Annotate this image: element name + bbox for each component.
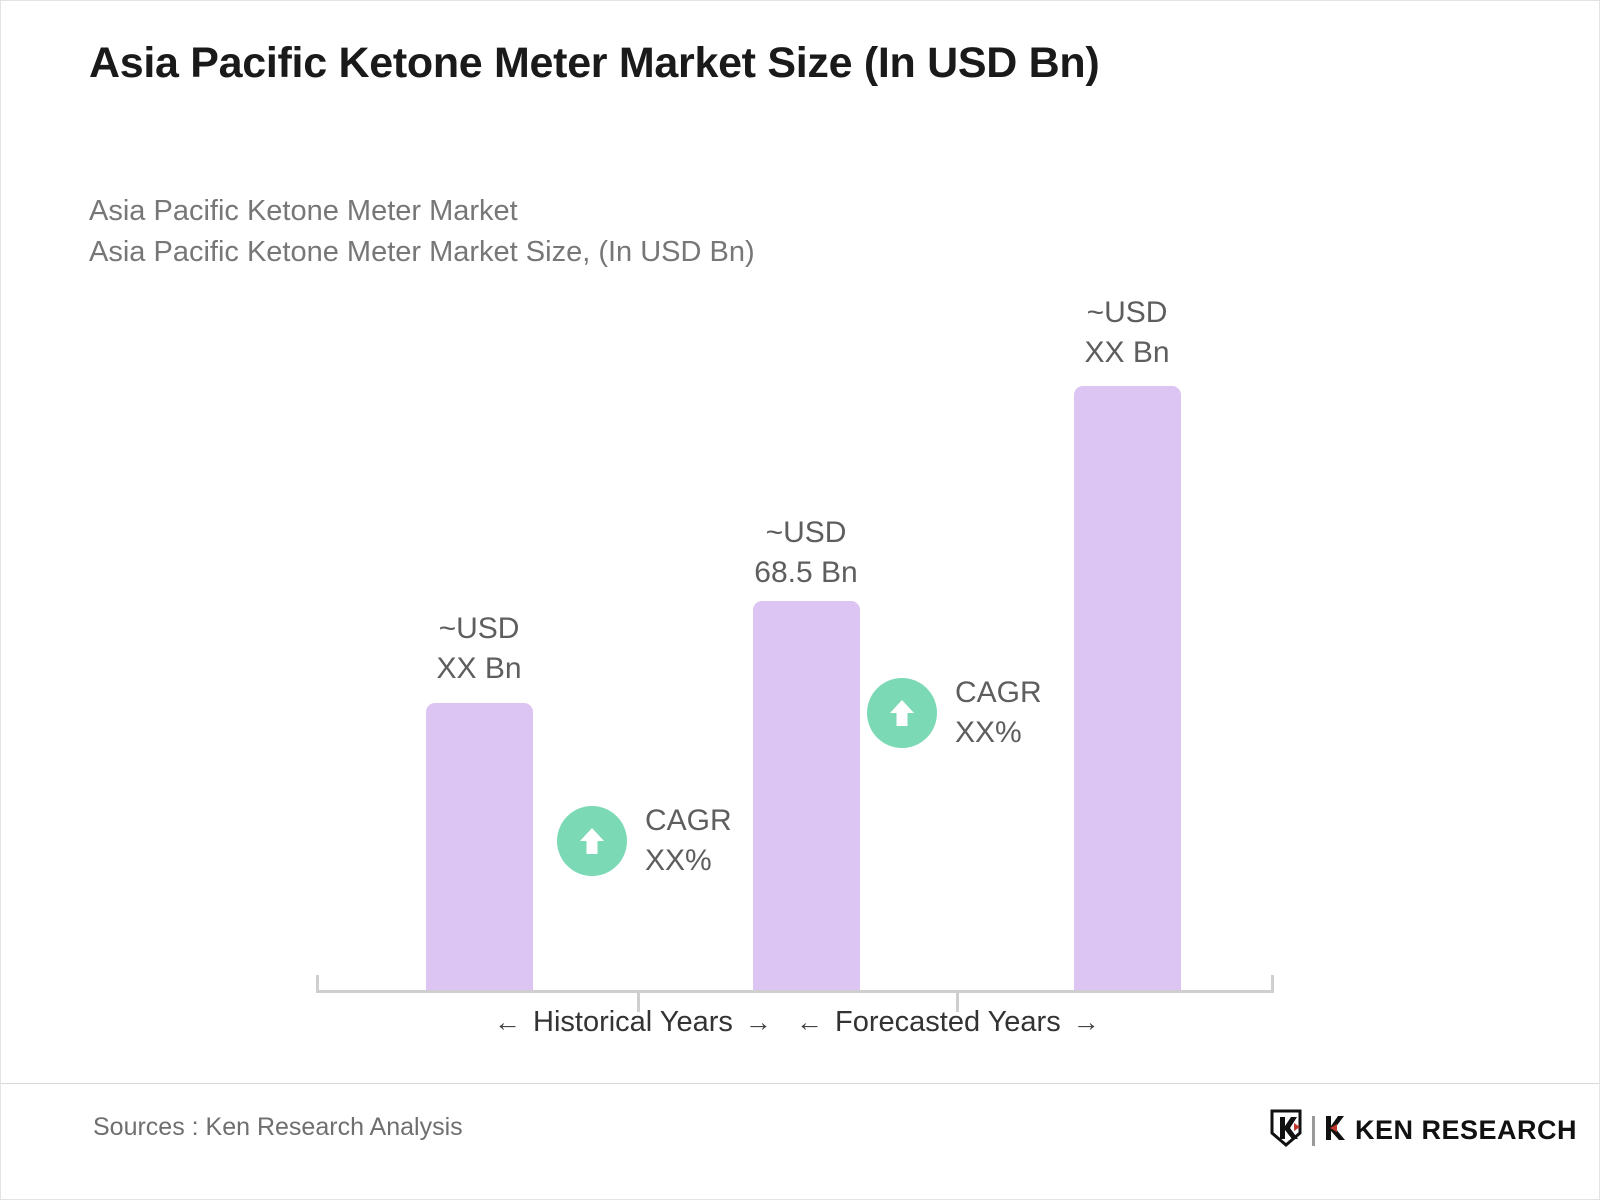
bar-label-historical-1: ~USD XX Bn — [379, 609, 579, 689]
arrow-up-icon — [867, 678, 937, 748]
bar-label-line-2: 68.5 Bn — [706, 553, 906, 593]
arrow-left-icon: ← — [796, 1009, 823, 1036]
bar-label-line-1: ~USD — [1027, 293, 1227, 333]
cagr-label-line-1: CAGR — [955, 673, 1042, 713]
sources-text: Sources : Ken Research Analysis — [93, 1113, 463, 1142]
bar-label-historical-2: ~USD 68.5 Bn — [706, 513, 906, 593]
cagr-label-1: CAGR XX% — [645, 801, 732, 881]
cagr-badge-2: CAGR XX% — [867, 673, 1042, 753]
bar-label-line-1: ~USD — [379, 609, 579, 649]
arrow-left-icon: ← — [494, 1009, 521, 1036]
axis-caption-historical-label: Historical Years — [533, 1006, 733, 1039]
arrow-up-icon — [557, 806, 627, 876]
bar-label-line-2: XX Bn — [379, 649, 579, 689]
logo-accent-k-icon — [1324, 1114, 1346, 1147]
x-axis-cap-left — [316, 975, 319, 993]
logo-wordmark: KEN RESEARCH — [1355, 1115, 1577, 1146]
bar-forecast-1 — [1074, 386, 1181, 991]
cagr-label-line-1: CAGR — [645, 801, 732, 841]
ken-research-logo: KEN RESEARCH — [1269, 1109, 1577, 1152]
slide-canvas: Asia Pacific Ketone Meter Market Size (I… — [0, 0, 1600, 1200]
bar-chart-plot-area: ~USD XX Bn ~USD 68.5 Bn ~USD XX Bn CAGR … — [1, 1, 1600, 1200]
cagr-label-line-2: XX% — [955, 713, 1042, 753]
arrow-right-icon: → — [745, 1009, 772, 1036]
bar-historical-2 — [753, 601, 860, 991]
bar-label-line-1: ~USD — [706, 513, 906, 553]
bar-label-forecast-1: ~USD XX Bn — [1027, 293, 1227, 373]
axis-caption-forecasted: ← Forecasted Years → — [796, 1006, 1100, 1039]
cagr-badge-1: CAGR XX% — [557, 801, 732, 881]
bar-historical-1 — [426, 703, 533, 991]
x-axis-cap-right — [1271, 975, 1274, 993]
cagr-label-line-2: XX% — [645, 841, 732, 881]
axis-caption-forecasted-label: Forecasted Years — [835, 1006, 1061, 1039]
footer-divider — [1, 1083, 1600, 1084]
axis-caption-historical: ← Historical Years → — [494, 1006, 772, 1039]
cagr-label-2: CAGR XX% — [955, 673, 1042, 753]
ken-research-shield-icon — [1269, 1109, 1303, 1152]
arrow-right-icon: → — [1073, 1009, 1100, 1036]
logo-divider — [1312, 1116, 1315, 1146]
x-axis-line — [316, 990, 1274, 993]
bar-label-line-2: XX Bn — [1027, 333, 1227, 373]
